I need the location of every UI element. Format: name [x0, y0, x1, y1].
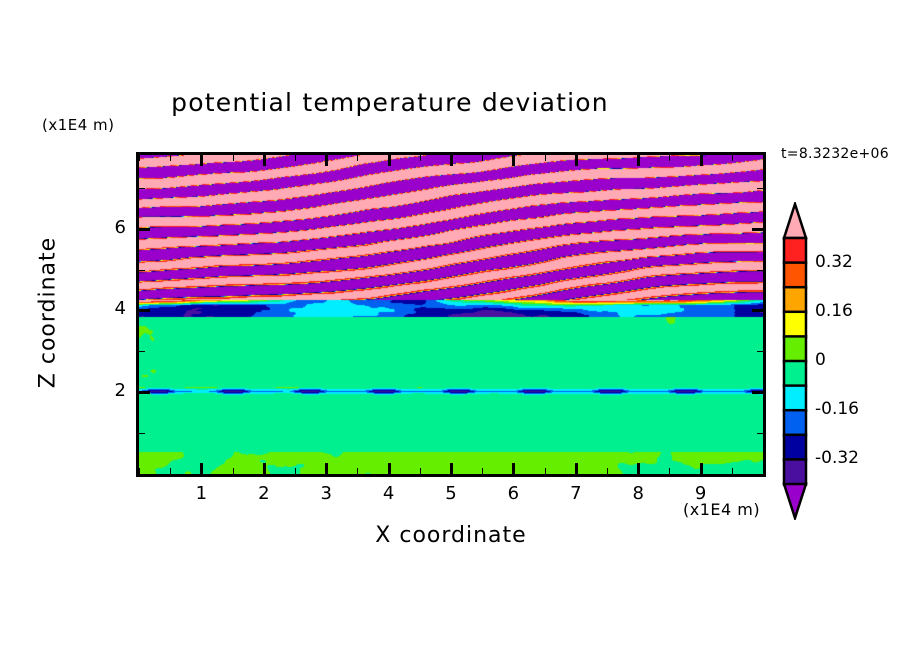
axis-tick — [295, 155, 296, 161]
axis-tick — [757, 351, 763, 352]
axis-tick — [732, 468, 733, 474]
axis-tick — [357, 468, 358, 474]
axis-tick — [545, 468, 546, 474]
axis-tick — [263, 463, 266, 474]
y-tick-label: 4 — [86, 298, 126, 319]
axis-tick — [233, 468, 234, 474]
axis-tick — [607, 155, 608, 161]
x-axis-title: X coordinate — [136, 523, 766, 548]
axis-tick — [388, 155, 391, 166]
axis-tick — [752, 309, 763, 312]
axis-tick — [139, 270, 145, 271]
axis-tick — [139, 474, 145, 475]
y-axis-title: Z coordinate — [36, 203, 61, 423]
axis-tick — [482, 155, 483, 161]
axis-tick — [420, 468, 421, 474]
axis-tick — [575, 463, 578, 474]
axis-tick — [450, 155, 453, 166]
axis-tick — [752, 228, 763, 231]
x-tick-label: 3 — [306, 483, 346, 504]
axis-tick — [732, 155, 733, 161]
contour-plot-area — [136, 152, 766, 477]
colorbar-tick-label: -0.32 — [815, 448, 859, 468]
x-axis-unit-label: (x1E4 m) — [683, 500, 760, 519]
axis-tick — [420, 155, 421, 161]
axis-tick — [263, 155, 266, 166]
x-tick-label: 6 — [493, 483, 533, 504]
axis-tick — [325, 463, 328, 474]
axis-tick — [357, 155, 358, 161]
time-annotation: t=8.3232e+06 — [781, 146, 889, 162]
axis-tick — [139, 228, 150, 231]
axis-tick — [139, 309, 150, 312]
axis-tick — [637, 463, 640, 474]
contour-field-canvas — [139, 155, 763, 474]
axis-tick — [757, 188, 763, 189]
axis-tick — [669, 155, 670, 161]
axis-tick — [700, 155, 703, 166]
axis-tick — [200, 463, 203, 474]
axis-tick — [763, 468, 764, 474]
axis-tick — [512, 463, 515, 474]
axis-tick — [139, 351, 145, 352]
axis-tick — [763, 155, 764, 161]
axis-tick — [757, 474, 763, 475]
axis-tick — [575, 155, 578, 166]
axis-tick — [669, 468, 670, 474]
colorbar-tick-label: 0.16 — [815, 301, 853, 321]
x-tick-label: 8 — [618, 483, 658, 504]
axis-tick — [200, 155, 203, 166]
axis-tick — [757, 433, 763, 434]
colorbar-tick-label: 0 — [815, 350, 826, 370]
axis-tick — [388, 463, 391, 474]
axis-tick — [139, 391, 150, 394]
y-tick-label: 6 — [86, 217, 126, 238]
figure-root: potential temperature deviation (x1E4 m)… — [0, 0, 904, 654]
axis-tick — [752, 391, 763, 394]
axis-tick — [757, 270, 763, 271]
axis-tick — [295, 468, 296, 474]
axis-tick — [170, 155, 171, 161]
axis-tick — [233, 155, 234, 161]
axis-tick — [700, 463, 703, 474]
axis-tick — [482, 468, 483, 474]
axis-tick — [139, 155, 140, 161]
axis-tick — [637, 155, 640, 166]
y-axis-unit-label: (x1E4 m) — [42, 116, 115, 134]
axis-tick — [545, 155, 546, 161]
colorbar-tick-label: -0.16 — [815, 399, 859, 419]
page-title: potential temperature deviation — [0, 88, 780, 117]
axis-tick — [325, 155, 328, 166]
axis-tick — [607, 468, 608, 474]
axis-tick — [512, 155, 515, 166]
x-tick-label: 4 — [369, 483, 409, 504]
x-tick-label: 7 — [556, 483, 596, 504]
axis-tick — [450, 463, 453, 474]
axis-tick — [139, 188, 145, 189]
colorbar[interactable] — [779, 202, 813, 520]
axis-tick — [139, 433, 145, 434]
x-tick-label: 1 — [181, 483, 221, 504]
x-tick-label: 2 — [244, 483, 284, 504]
colorbar-swatches — [779, 202, 813, 520]
axis-tick — [170, 468, 171, 474]
colorbar-tick-label: 0.32 — [815, 252, 853, 272]
x-tick-label: 5 — [431, 483, 471, 504]
y-tick-label: 2 — [86, 380, 126, 401]
